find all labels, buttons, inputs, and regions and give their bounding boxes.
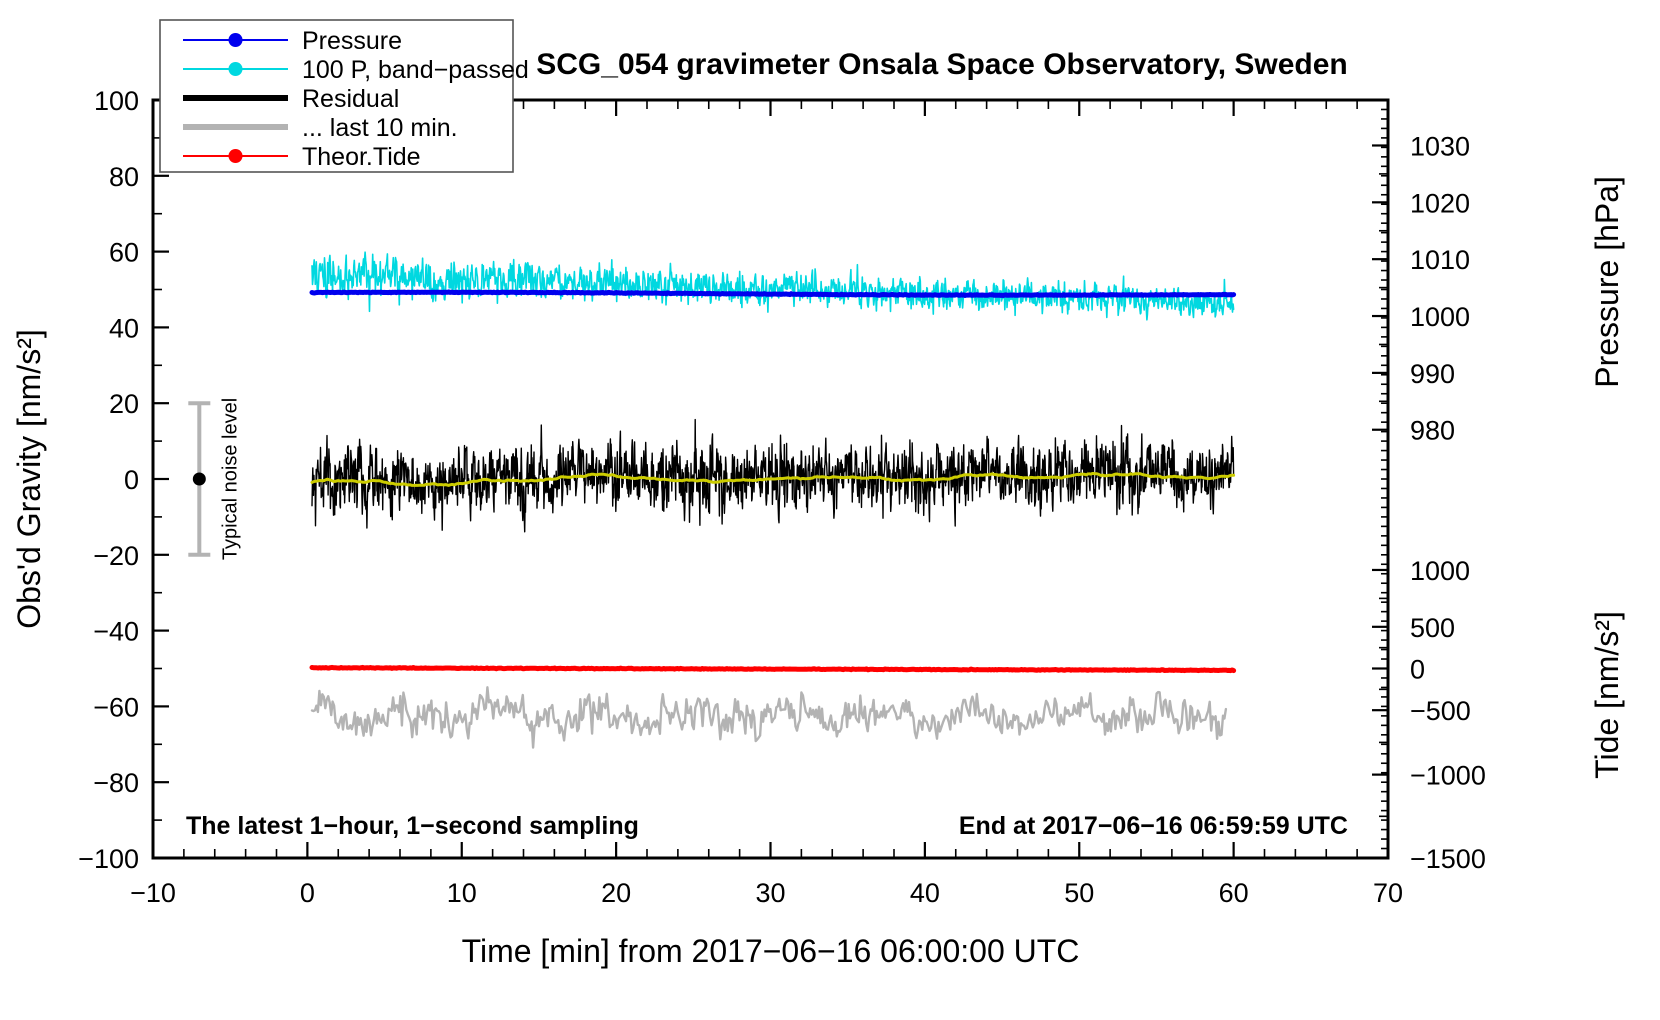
trace-theor-tide [312,667,1234,670]
y-tick-label: 20 [109,389,139,419]
y-tick-label: −100 [78,844,139,874]
legend-layer[interactable]: Pressure100 P, band−passedResidual... la… [160,20,529,172]
y-tick-label: 0 [124,465,139,495]
tide-axis-tick-label: 0 [1410,655,1425,685]
legend-label: ... last 10 min. [302,114,458,142]
traces-layer [312,252,1234,747]
y-tick-label: 40 [109,313,139,343]
pressure-axis-tick-label: 1000 [1410,302,1470,332]
x-axis-title: Time [min] from 2017−06−16 06:00:00 UTC [462,933,1080,969]
legend-label: Theor.Tide [302,143,421,171]
x-tick-label: 20 [601,878,631,908]
y-tick-label: 80 [109,162,139,192]
noise-level-label: Typical noise level [219,398,241,560]
tide-axis-tick-label: −1000 [1410,761,1486,791]
x-tick-label: 50 [1064,878,1094,908]
plot-title: SCG_054 gravimeter Onsala Space Observat… [536,48,1348,81]
y-tick-label: −20 [93,541,139,571]
x-tick-label: 60 [1219,878,1249,908]
tide-axis-tick-label: 1000 [1410,556,1470,586]
plot-canvas: −10010203040506070100806040200−20−40−60−… [0,0,1660,1020]
y-tick-label: −80 [93,768,139,798]
legend-marker [229,149,243,163]
tide-axis-title: Tide [nm/s²] [1589,611,1625,779]
pressure-axis-tick-label: 980 [1410,416,1455,446]
x-tick-label: 70 [1373,878,1403,908]
trace-residual [312,420,1234,532]
tide-axis-tick-label: 500 [1410,613,1455,643]
pressure-axis-tick-label: 990 [1410,359,1455,389]
trace-pressure-bandpassed [312,252,1234,320]
legend-label: 100 P, band−passed [302,56,529,84]
x-tick-label: 0 [300,878,315,908]
x-tick-label: 10 [447,878,477,908]
legend-label: Pressure [302,27,402,55]
legend-marker [229,62,243,76]
noise-errorbar-point [193,473,206,486]
y-axis-title: Obs'd Gravity [nm/s²] [11,329,47,629]
pressure-axis-tick-label: 1010 [1410,245,1470,275]
trace-last-10-min [312,687,1226,747]
annotation-bottom-left: The latest 1−hour, 1−second sampling [186,812,639,840]
pressure-axis-tick-label: 1020 [1410,188,1470,218]
annotation-bottom-right: End at 2017−06−16 06:59:59 UTC [959,812,1348,840]
x-tick-label: 40 [910,878,940,908]
y-tick-label: 100 [94,86,139,116]
x-tick-label: 30 [755,878,785,908]
pressure-axis-tick-label: 1030 [1410,131,1470,161]
y-tick-label: 60 [109,238,139,268]
x-tick-label: −10 [130,878,176,908]
legend-marker [229,33,243,47]
gravimeter-monitor-plot: −10010203040506070100806040200−20−40−60−… [0,0,1660,1020]
pressure-axis-title: Pressure [hPa] [1589,176,1625,388]
y-tick-label: −40 [93,617,139,647]
tide-axis-tick-label: −1500 [1410,844,1486,874]
legend-label: Residual [302,85,399,113]
tide-axis-tick-label: −500 [1410,696,1471,726]
y-tick-label: −60 [93,692,139,722]
